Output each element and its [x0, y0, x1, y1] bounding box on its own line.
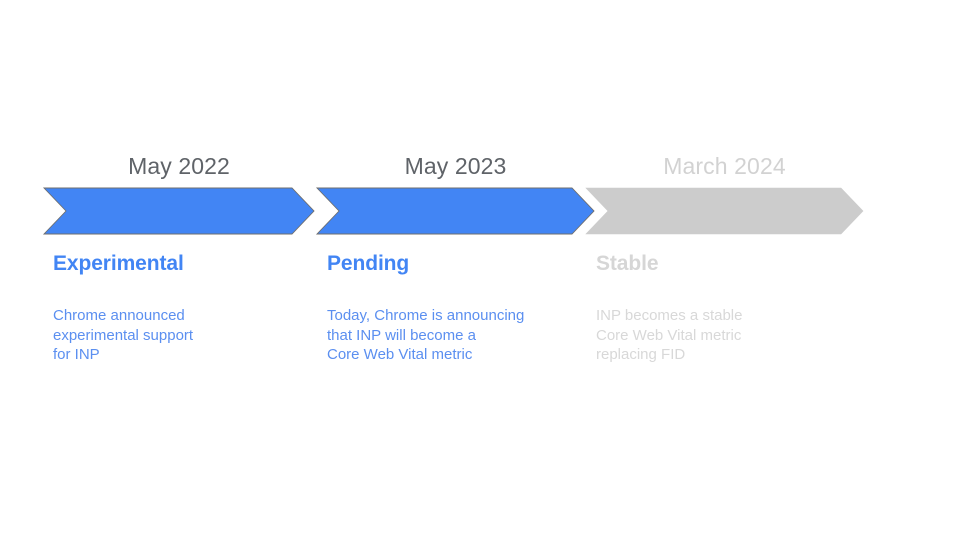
stage-title-pending: Pending — [327, 250, 594, 278]
stage-description-stable: INP becomes a stable Core Web Vital metr… — [596, 306, 863, 365]
stage-date-label-3: March 2024 — [586, 152, 863, 180]
timeline-stage-pending: May 2023 Pending Today, Chrome is announ… — [317, 0, 594, 540]
stage-text-block-3: Stable INP becomes a stable Core Web Vit… — [596, 250, 863, 365]
stage-text-block-2: Pending Today, Chrome is announcing that… — [327, 250, 594, 365]
chevron-shape-2 — [317, 188, 594, 234]
stage-title-experimental: Experimental — [53, 250, 314, 278]
timeline-stage-experimental: May 2022 Experimental Chrome announced e… — [44, 0, 314, 540]
stage-date-label-1: May 2022 — [44, 152, 314, 180]
stage-text-block-1: Experimental Chrome announced experiment… — [53, 250, 314, 365]
chevron-arrow-2 — [317, 188, 594, 234]
stage-title-stable: Stable — [596, 250, 863, 278]
stage-date-label-2: May 2023 — [317, 152, 594, 180]
timeline-stage-stable: March 2024 Stable INP becomes a stable C… — [586, 0, 863, 540]
stage-description-experimental: Chrome announced experimental support fo… — [53, 306, 314, 365]
chevron-arrow-3 — [586, 188, 863, 234]
timeline-diagram: May 2022 Experimental Chrome announced e… — [0, 0, 960, 540]
chevron-shape-1 — [44, 188, 314, 234]
chevron-shape-3 — [586, 188, 863, 234]
stage-description-pending: Today, Chrome is announcing that INP wil… — [327, 306, 594, 365]
chevron-arrow-1 — [44, 188, 314, 234]
